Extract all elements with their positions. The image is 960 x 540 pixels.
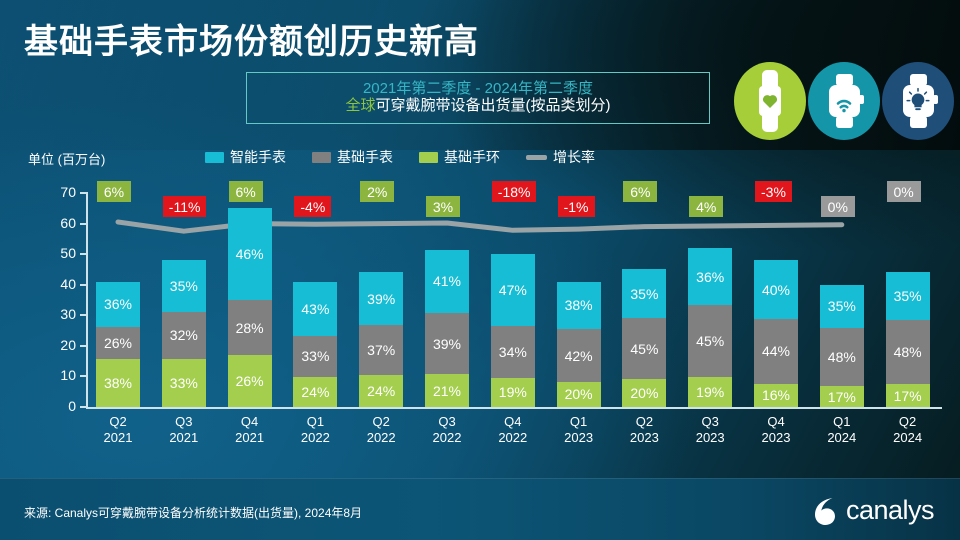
bar-q1-2023[interactable]: 20%42%38%	[557, 282, 601, 407]
bar-segment-label: 20%	[630, 385, 658, 401]
y-axis-tick	[80, 314, 88, 316]
x-axis-tick-label: Q32022	[414, 414, 480, 446]
x-axis-tick-label: Q32023	[677, 414, 743, 446]
fitness-band-heart-icon	[734, 62, 806, 140]
bar-segment-basic: 33%	[293, 336, 337, 377]
chart-legend: 智能手表基础手表基础手环增长率	[205, 148, 621, 166]
bar-segment-basic: 32%	[162, 312, 206, 359]
subtitle-highlight: 全球	[345, 97, 375, 114]
bar-segment-band: 19%	[688, 377, 732, 407]
y-axis-tick-label: 20	[28, 337, 76, 353]
bar-segment-band: 24%	[293, 377, 337, 407]
x-axis-tick-label-line: 2022	[480, 430, 546, 446]
bar-segment-label: 20%	[565, 386, 593, 402]
legend-item-4: 增长率	[526, 147, 595, 167]
page-title: 基础手表市场份额创历史新高	[24, 14, 479, 63]
bar-segment-basic: 45%	[688, 305, 732, 377]
growth-badge-q4-2022: -18%	[492, 181, 537, 202]
bar-segment-smart: 40%	[754, 260, 798, 319]
growth-badge-q2-2024: 0%	[887, 181, 921, 202]
canalys-mark-icon	[813, 496, 839, 526]
bar-segment-smart: 35%	[622, 269, 666, 317]
x-axis-tick-label: Q12024	[809, 414, 875, 446]
bar-segment-label: 16%	[762, 387, 790, 403]
legend-item-2: 基础手表	[312, 147, 393, 167]
y-axis-tick-label: 10	[28, 367, 76, 383]
device-icon-group	[734, 62, 956, 140]
x-axis-tick-label: Q22022	[348, 414, 414, 446]
x-axis-tick-label-line: 2022	[414, 430, 480, 446]
bar-segment-label: 24%	[367, 383, 395, 399]
bar-segment-label: 33%	[170, 375, 198, 391]
x-axis-tick-label-line: Q2	[348, 414, 414, 430]
bar-segment-label: 45%	[630, 341, 658, 357]
bar-segment-label: 43%	[301, 301, 329, 317]
y-axis-tick-label: 60	[28, 215, 76, 231]
growth-badge-q3-2023: 4%	[689, 196, 723, 217]
y-axis-tick-label: 50	[28, 245, 76, 261]
x-axis-tick-label-line: Q4	[743, 414, 809, 430]
bar-segment-basic: 37%	[359, 325, 403, 375]
bar-segment-label: 46%	[236, 246, 264, 262]
subtitle-date-range: 2021年第二季度 - 2024年第二季度	[363, 81, 593, 98]
y-axis-tick-label: 0	[28, 398, 76, 414]
y-axis-tick-label: 40	[28, 276, 76, 292]
bar-segment-basic: 42%	[557, 329, 601, 382]
bar-segment-label: 26%	[104, 335, 132, 351]
x-axis-tick-label-line: Q1	[546, 414, 612, 430]
x-axis-tick-label: Q22024	[875, 414, 941, 446]
x-axis-tick-label-line: Q4	[480, 414, 546, 430]
y-axis-tick	[80, 345, 88, 347]
bar-q1-2022[interactable]: 24%33%43%	[293, 282, 337, 407]
bar-q2-2021[interactable]: 38%26%36%	[96, 282, 140, 407]
bar-segment-basic: 28%	[228, 300, 272, 356]
bar-segment-band: 33%	[162, 359, 206, 407]
growth-badge-q3-2021: -11%	[163, 196, 207, 217]
x-axis-tick-label-line: Q1	[809, 414, 875, 430]
bar-segment-label: 17%	[828, 389, 856, 405]
bar-segment-basic: 44%	[754, 319, 798, 384]
bar-segment-band: 20%	[557, 382, 601, 407]
bar-segment-basic: 48%	[820, 328, 864, 387]
bar-segment-smart: 38%	[557, 282, 601, 330]
bar-segment-smart: 41%	[425, 250, 469, 314]
bar-segment-label: 19%	[696, 384, 724, 400]
x-axis-tick-label: Q42022	[480, 414, 546, 446]
growth-badge-q2-2023: 6%	[623, 181, 657, 202]
legend-swatch-icon	[312, 152, 331, 163]
x-axis-tick-label-line: Q1	[282, 414, 348, 430]
y-axis-tick-label: 70	[28, 184, 76, 200]
x-axis-tick-label-line: 2023	[546, 430, 612, 446]
legend-swatch-icon	[205, 152, 224, 163]
x-axis-tick-label: Q42021	[217, 414, 283, 446]
bar-segment-band: 19%	[491, 378, 535, 407]
x-axis-tick-label-line: 2022	[348, 430, 414, 446]
subtitle-rest: 可穿戴腕带设备出货量(按品类划分)	[376, 97, 611, 114]
bar-segment-basic: 34%	[491, 326, 535, 378]
legend-swatch-icon	[419, 152, 438, 163]
bar-segment-label: 35%	[894, 288, 922, 304]
growth-badge-q1-2023: -1%	[558, 196, 595, 217]
bar-segment-band: 17%	[886, 384, 930, 407]
x-axis-tick-label-line: Q2	[611, 414, 677, 430]
x-axis-tick-label: Q22023	[611, 414, 677, 446]
bar-segment-basic: 48%	[886, 320, 930, 385]
bar-segment-label: 21%	[433, 383, 461, 399]
bar-segment-label: 32%	[170, 327, 198, 343]
bar-segment-label: 40%	[762, 282, 790, 298]
bar-q4-2023[interactable]: 16%44%40%	[754, 260, 798, 407]
legend-item-3: 基础手环	[419, 147, 500, 167]
y-axis-tick	[80, 223, 88, 225]
bar-q3-2021[interactable]: 33%32%35%	[162, 260, 206, 407]
y-axis-tick	[80, 406, 88, 408]
bar-segment-band: 24%	[359, 375, 403, 407]
subtitle-box: 2021年第二季度 - 2024年第二季度 全球可穿戴腕带设备出货量(按品类划分…	[246, 72, 710, 124]
bar-q4-2021[interactable]: 26%28%46%	[228, 208, 272, 407]
bar-segment-label: 34%	[499, 344, 527, 360]
x-axis-tick-label-line: 2021	[217, 430, 283, 446]
bar-segment-label: 42%	[565, 348, 593, 364]
bar-segment-band: 16%	[754, 384, 798, 407]
bar-segment-label: 37%	[367, 342, 395, 358]
bar-segment-label: 38%	[565, 297, 593, 313]
bar-q2-2024[interactable]: 17%48%35%	[886, 272, 930, 407]
growth-badge-q3-2022: 3%	[426, 196, 460, 217]
bar-segment-smart: 36%	[96, 282, 140, 327]
smartwatch-wifi-icon	[808, 62, 880, 140]
legend-label: 基础手环	[444, 147, 500, 167]
bar-segment-smart: 35%	[886, 272, 930, 319]
x-axis-tick-label-line: 2021	[85, 430, 151, 446]
bar-segment-label: 44%	[762, 343, 790, 359]
x-axis-tick-label-line: 2024	[809, 430, 875, 446]
growth-badge-q1-2022: -4%	[294, 196, 331, 217]
growth-badge-q2-2022: 2%	[360, 181, 394, 202]
unit-label: 单位 (百万台)	[28, 149, 105, 168]
legend-item-1: 智能手表	[205, 147, 286, 167]
bar-segment-band: 26%	[228, 355, 272, 407]
x-axis-tick-label-line: Q3	[414, 414, 480, 430]
legend-label: 智能手表	[230, 147, 286, 167]
x-axis-tick-label-line: Q2	[85, 414, 151, 430]
bar-q1-2024[interactable]: 17%48%35%	[820, 285, 864, 407]
x-axis-tick-label-line: Q3	[677, 414, 743, 430]
bar-segment-label: 24%	[301, 384, 329, 400]
x-axis-tick-label-line: 2021	[151, 430, 217, 446]
bar-q3-2023[interactable]: 19%45%36%	[688, 248, 732, 407]
x-axis-tick-label-line: 2023	[677, 430, 743, 446]
bar-segment-smart: 35%	[820, 285, 864, 328]
chart-plot-area: 01020304050607038%26%36%6%Q2202133%32%35…	[0, 180, 960, 480]
x-axis-tick-label-line: 2024	[875, 430, 941, 446]
bar-segment-label: 19%	[499, 384, 527, 400]
bar-q2-2022[interactable]: 24%37%39%	[359, 272, 403, 407]
y-axis-tick	[80, 284, 88, 286]
x-axis-tick-label: Q42023	[743, 414, 809, 446]
y-axis-tick	[80, 253, 88, 255]
bar-segment-label: 39%	[367, 291, 395, 307]
bar-segment-band: 21%	[425, 374, 469, 407]
bar-segment-label: 33%	[301, 348, 329, 364]
bar-segment-band: 20%	[622, 379, 666, 407]
bar-segment-smart: 47%	[491, 254, 535, 326]
bar-segment-label: 35%	[170, 278, 198, 294]
smartwatch-bulb-icon	[882, 62, 954, 140]
canalys-logo: canalys	[813, 495, 934, 526]
bar-segment-label: 47%	[499, 282, 527, 298]
x-axis-tick-label-line: Q2	[875, 414, 941, 430]
bar-segment-band: 17%	[820, 386, 864, 407]
x-axis-tick-label-line: Q3	[151, 414, 217, 430]
growth-badge-q1-2024: 0%	[821, 196, 855, 217]
x-axis-tick-label: Q12023	[546, 414, 612, 446]
bar-q2-2023[interactable]: 20%45%35%	[622, 269, 666, 407]
bar-segment-basic: 39%	[425, 313, 469, 374]
growth-badge-q2-2021: 6%	[97, 181, 131, 202]
bar-segment-label: 35%	[630, 286, 658, 302]
x-axis-tick-label: Q22021	[85, 414, 151, 446]
bar-segment-label: 38%	[104, 375, 132, 391]
bar-q3-2022[interactable]: 21%39%41%	[425, 251, 469, 407]
canalys-wordmark: canalys	[846, 495, 934, 526]
bar-segment-label: 28%	[236, 320, 264, 336]
bar-segment-basic: 45%	[622, 318, 666, 380]
x-axis-line	[86, 407, 942, 409]
bar-segment-label: 41%	[433, 273, 461, 289]
legend-label: 基础手表	[337, 147, 393, 167]
bar-segment-label: 26%	[236, 373, 264, 389]
bar-segment-label: 48%	[828, 349, 856, 365]
bar-segment-label: 39%	[433, 336, 461, 352]
subtitle-description: 全球可穿戴腕带设备出货量(按品类划分)	[345, 98, 610, 115]
y-axis-tick	[80, 375, 88, 377]
x-axis-tick-label-line: 2022	[282, 430, 348, 446]
source-note: 来源: Canalys可穿戴腕带设备分析统计数据(出货量), 2024年8月	[24, 504, 362, 521]
y-axis-tick	[80, 192, 88, 194]
bar-segment-smart: 43%	[293, 282, 337, 336]
bar-segment-label: 35%	[828, 298, 856, 314]
x-axis-tick-label: Q12022	[282, 414, 348, 446]
x-axis-tick-label-line: Q4	[217, 414, 283, 430]
growth-badge-q4-2021: 6%	[229, 181, 263, 202]
bar-segment-smart: 35%	[162, 260, 206, 311]
bar-segment-smart: 36%	[688, 248, 732, 305]
bar-segment-label: 45%	[696, 333, 724, 349]
growth-badge-q4-2023: -3%	[755, 181, 792, 202]
bar-segment-smart: 46%	[228, 208, 272, 299]
bar-segment-label: 17%	[894, 388, 922, 404]
x-axis-tick-label: Q32021	[151, 414, 217, 446]
x-axis-tick-label-line: 2023	[611, 430, 677, 446]
bar-segment-label: 36%	[104, 296, 132, 312]
x-axis-tick-label-line: 2023	[743, 430, 809, 446]
bar-segment-band: 38%	[96, 359, 140, 407]
legend-label: 增长率	[553, 147, 595, 167]
bar-segment-basic: 26%	[96, 327, 140, 360]
bar-segment-label: 48%	[894, 344, 922, 360]
y-axis-tick-label: 30	[28, 306, 76, 322]
bar-segment-smart: 39%	[359, 272, 403, 324]
bar-segment-label: 36%	[696, 269, 724, 285]
legend-swatch-icon	[526, 155, 547, 160]
bar-q4-2022[interactable]: 19%34%47%	[491, 254, 535, 407]
